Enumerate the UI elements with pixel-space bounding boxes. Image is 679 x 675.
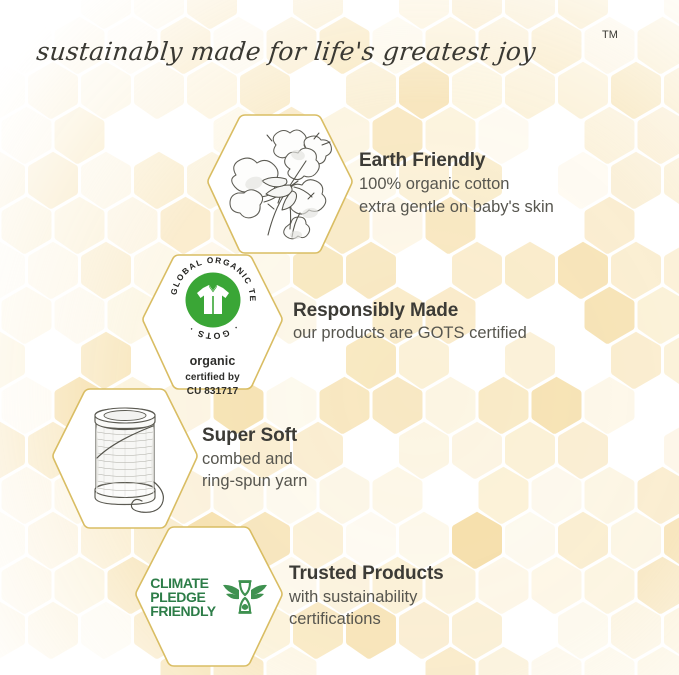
honeycomb-cell [399,422,449,479]
honeycomb-cell [664,512,679,569]
hex-frame-earth-friendly [205,112,355,256]
honeycomb-cell [638,287,679,344]
climate-pledge-friendly-icon: CLIMATE PLEDGE FRIENDLY [150,575,268,619]
honeycomb-cell [558,152,608,209]
honeycomb-cell [2,467,52,524]
honeycomb-cell [532,557,582,614]
honeycomb-cell [81,602,131,659]
feature-trusted-products: CLIMATE PLEDGE FRIENDLY [133,524,444,669]
feature-title: Super Soft [202,424,307,448]
honeycomb-cell [585,467,635,524]
honeycomb-cell [28,242,78,299]
hex-frame-trusted-products: CLIMATE PLEDGE FRIENDLY [133,524,285,669]
honeycomb-cell [2,287,52,344]
honeycomb-cell [585,557,635,614]
honeycomb-cell [532,377,582,434]
honeycomb-cell [28,602,78,659]
honeycomb-cell [664,602,679,659]
honeycomb-cell [55,287,105,344]
feature-earth-friendly: Earth Friendly 100% organic cotton extra… [205,112,554,256]
honeycomb-cell [585,107,635,164]
honeycomb-cell [2,107,52,164]
honeycomb-cell [55,557,105,614]
cpf-word-climate: CLIMATE [150,576,208,590]
honeycomb-cell [638,557,679,614]
honeycomb-cell [558,512,608,569]
honeycomb-cell [452,602,502,659]
honeycomb-cell [0,602,25,659]
honeycomb-cell [55,197,105,254]
honeycomb-cell [558,242,608,299]
feature-title: Earth Friendly [359,149,554,173]
honeycomb-cell [479,557,529,614]
gots-organic-certification-icon: GLOBAL ORGANIC TEXTILE STANDARD [165,252,261,348]
feature-line: 100% organic cotton [359,173,554,196]
honeycomb-cell [611,332,661,389]
thread-spool-sketch-icon [66,398,184,520]
honeycomb-cell [2,377,52,434]
honeycomb-cell [585,377,635,434]
honeycomb-cell [108,197,158,254]
honeycomb-cell [638,467,679,524]
honeycomb-cell [161,197,211,254]
honeycomb-cell [585,197,635,254]
promo-infographic: sustainably made for life's greatest joy… [0,0,679,675]
feature-line: combed and [202,448,307,471]
honeycomb-cell [81,242,131,299]
honeycomb-cell [585,647,635,675]
page-headline: sustainably made for life's greatest joy… [0,18,679,80]
feature-text-responsibly-made: Responsibly Made our products are GOTS c… [293,299,527,345]
cpf-word-friendly: FRIENDLY [150,604,216,618]
honeycomb-cell [558,422,608,479]
honeycomb-cell [664,422,679,479]
honeycomb-cell [28,152,78,209]
honeycomb-cell [0,512,25,569]
cotton-boll-sketch-icon [214,121,346,247]
gots-organic-label: organic [190,354,236,368]
gots-certified-by-label: certified by [185,371,240,384]
feature-line: our products are GOTS certified [293,322,527,345]
feature-text-earth-friendly: Earth Friendly 100% organic cotton extra… [359,149,554,218]
honeycomb-cell [55,107,105,164]
feature-responsibly-made: GLOBAL ORGANIC TEXTILE STANDARD [140,252,527,392]
climate-pledge-wordmark: CLIMATE PLEDGE FRIENDLY [150,576,216,618]
feature-line: certifications [289,608,444,631]
feature-text-trusted-products: Trusted Products with sustainability cer… [289,562,444,631]
honeycomb-cell [2,197,52,254]
honeycomb-cell [611,512,661,569]
honeycomb-cell [479,647,529,675]
honeycomb-cell [452,512,502,569]
honeycomb-cell [585,287,635,344]
honeycomb-cell [611,152,661,209]
hex-frame-super-soft [50,386,200,531]
honeycomb-cell [0,422,25,479]
honeycomb-cell [0,242,25,299]
honeycomb-cell [0,152,25,209]
honeycomb-cell [558,602,608,659]
cpf-word-pledge: PLEDGE [150,590,205,604]
honeycomb-cell [81,332,131,389]
honeycomb-cell [320,467,370,524]
honeycomb-cell [664,242,679,299]
feature-title: Trusted Products [289,562,444,586]
honeycomb-cell [638,107,679,164]
feature-line: extra gentle on baby's skin [359,196,554,219]
honeycomb-cell [134,152,184,209]
headline-trademark: TM [602,29,618,41]
feature-line: ring-spun yarn [202,470,307,493]
honeycomb-cell [532,647,582,675]
honeycomb-cell [638,647,679,675]
honeycomb-cell [81,152,131,209]
honeycomb-cell [664,152,679,209]
headline-text: sustainably made for life's greatest joy [35,37,538,66]
honeycomb-cell [2,557,52,614]
honeycomb-cell [0,332,25,389]
honeycomb-cell [664,332,679,389]
honeycomb-cell [532,467,582,524]
feature-title: Responsibly Made [293,299,527,323]
honeycomb-cell [479,467,529,524]
honeycomb-cell [505,512,555,569]
honeycomb-cell [373,467,423,524]
honeycomb-cell [505,422,555,479]
honeycomb-cell [611,602,661,659]
winged-hourglass-icon [222,575,268,619]
honeycomb-cell [452,422,502,479]
feature-line: with sustainability [289,586,444,609]
hex-frame-responsibly-made: GLOBAL ORGANIC TEXTILE STANDARD [140,252,285,392]
feature-text-super-soft: Super Soft combed and ring-spun yarn [202,424,307,493]
honeycomb-cell [611,242,661,299]
feature-super-soft: Super Soft combed and ring-spun yarn [50,386,307,531]
